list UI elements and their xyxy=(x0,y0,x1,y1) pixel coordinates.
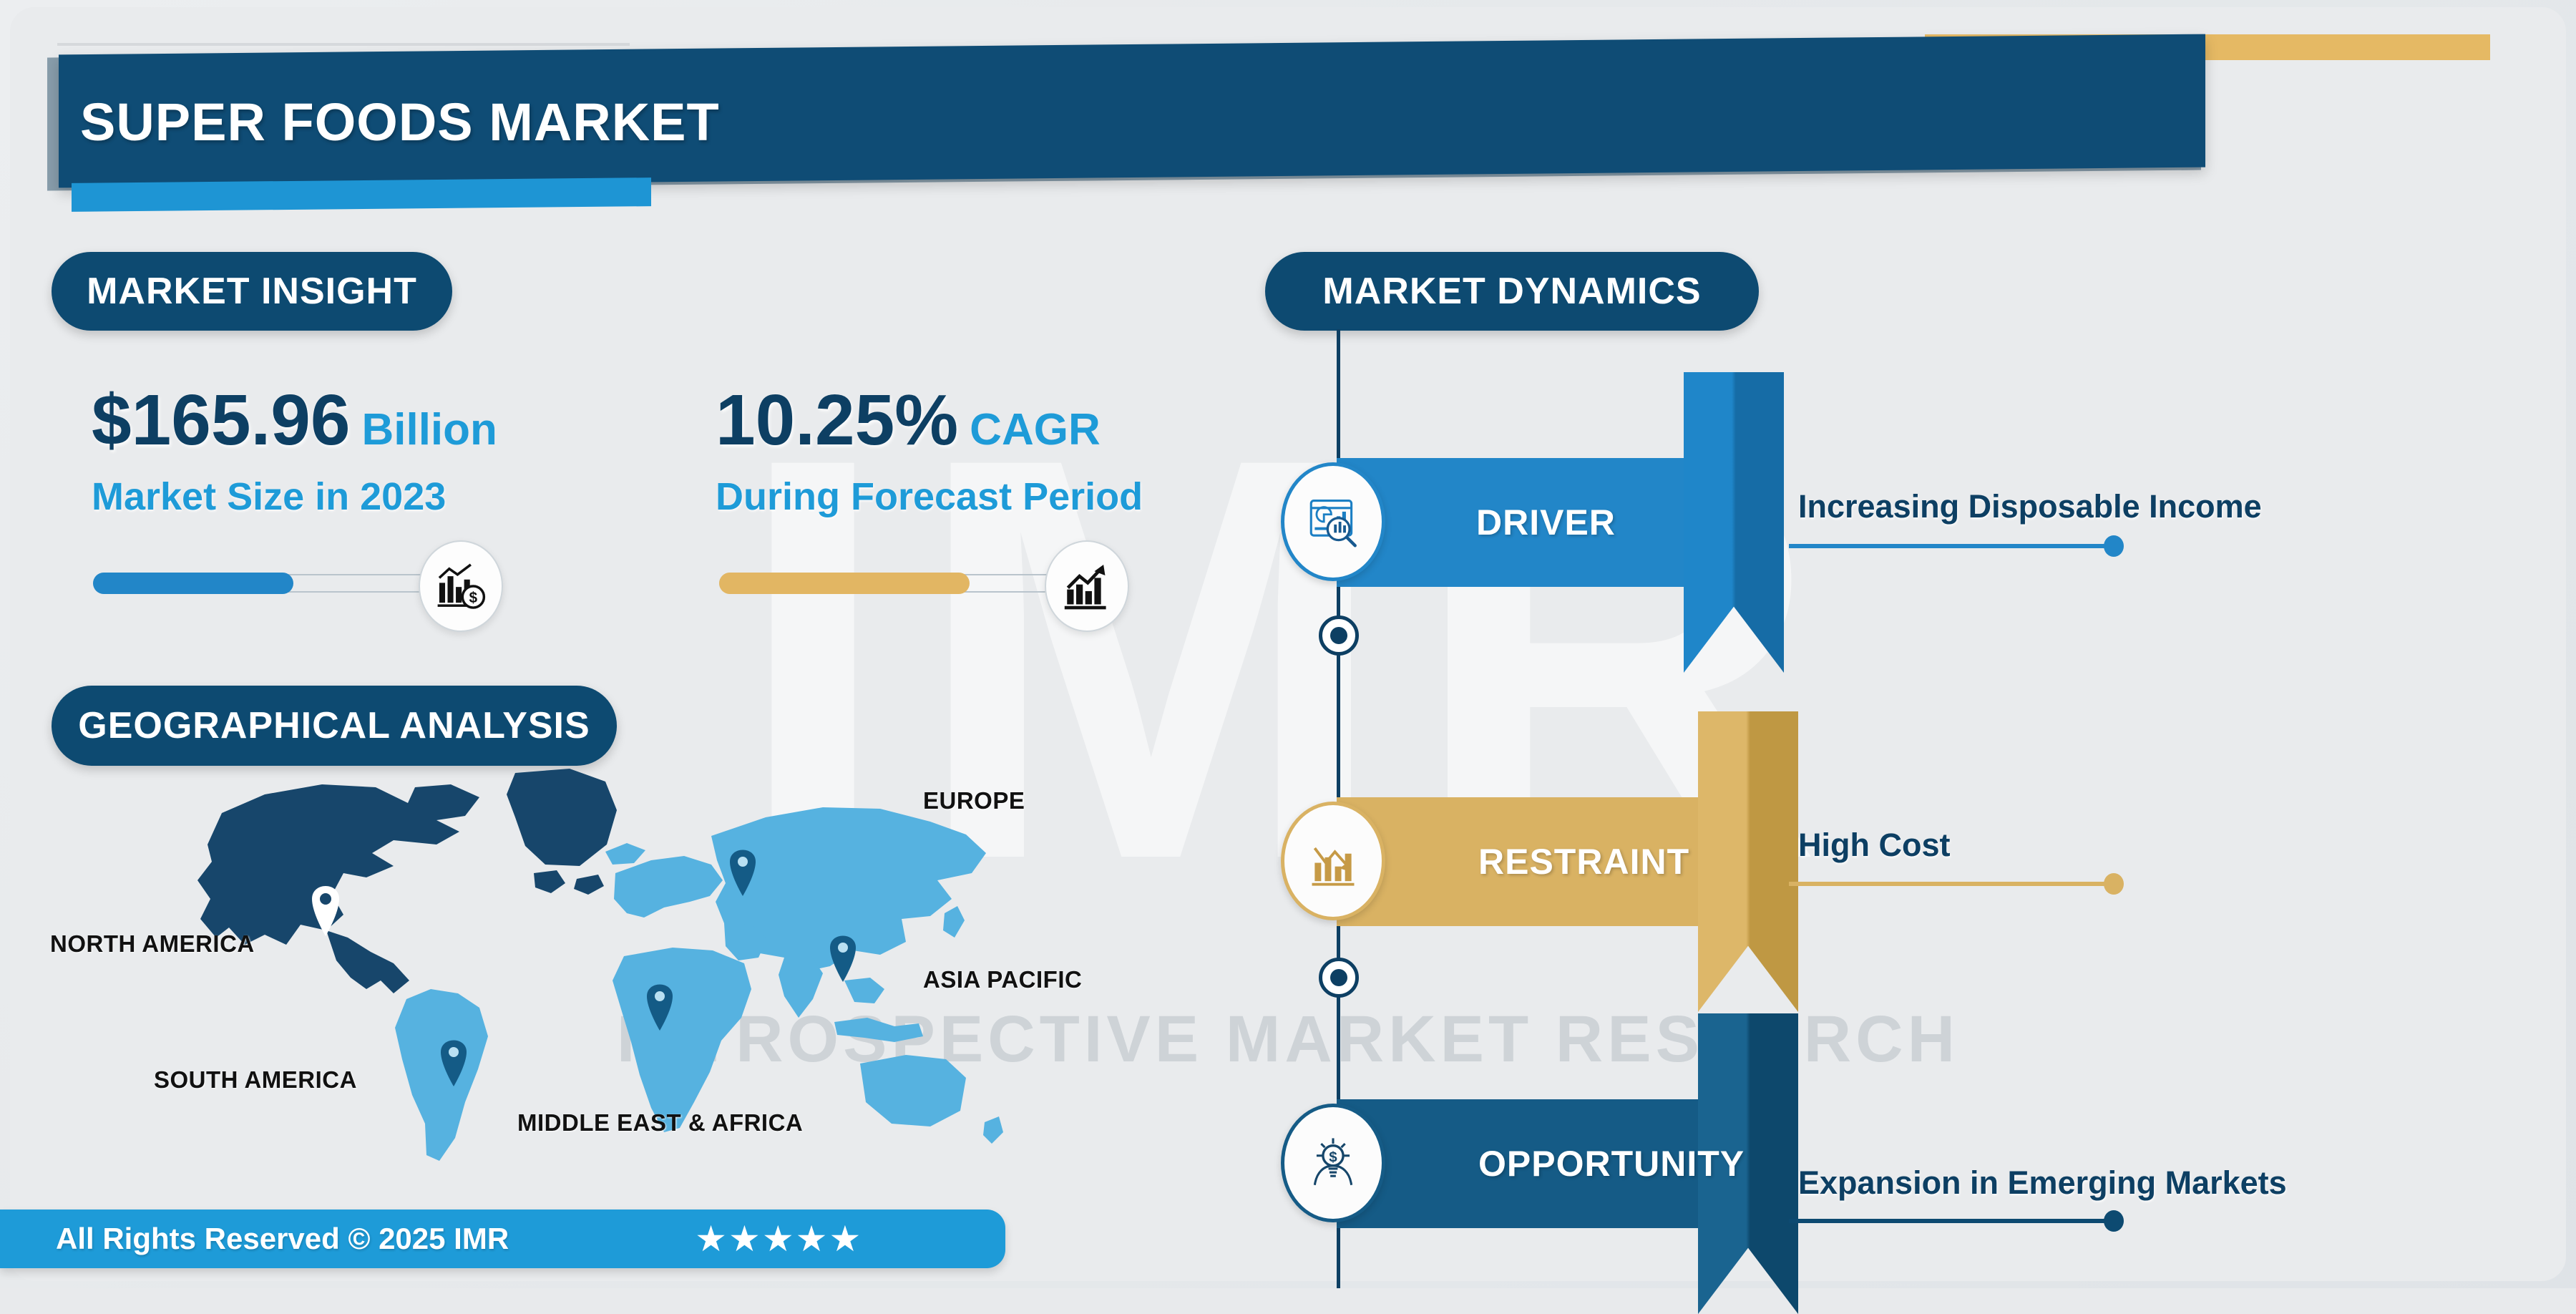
restraint-endpoint-dot xyxy=(2104,873,2124,895)
timeline-node-1 xyxy=(1319,615,1359,656)
copyright-text: All Rights Reserved © 2025 IMR xyxy=(56,1222,509,1256)
svg-text:$: $ xyxy=(1329,1149,1337,1166)
header-blue-accent xyxy=(72,177,651,212)
map-pin-north-america xyxy=(312,886,339,936)
market-size-progress xyxy=(93,573,451,594)
rating-stars: ★★★★★ xyxy=(695,1218,862,1260)
map-label-middle-east-africa: MIDDLE EAST & AFRICA xyxy=(517,1109,803,1137)
cagr-progress xyxy=(719,573,1077,594)
driver-endpoint-dot xyxy=(2104,535,2124,557)
opportunity-endpoint-dot xyxy=(2104,1210,2124,1232)
opportunity-label: OPPORTUNITY xyxy=(1478,1099,1745,1228)
cagr-unit: CAGR xyxy=(970,404,1101,455)
kpi-market-size: $165.96Billion Market Size in 2023 xyxy=(92,379,650,519)
driver-rule xyxy=(1789,544,2118,548)
kpi-cagr: 10.25%CAGR During Forecast Period xyxy=(716,379,1288,519)
restraint-label: RESTRAINT xyxy=(1478,797,1689,926)
market-size-unit: Billion xyxy=(361,404,497,455)
progress-fill xyxy=(93,573,293,594)
footer-bar: All Rights Reserved © 2025 IMR ★★★★★ xyxy=(0,1210,1005,1268)
infographic-canvas: IMR INTROSPECTIVE MARKET RESEARCH SUPER … xyxy=(0,0,2576,1288)
svg-text:$: $ xyxy=(469,590,478,606)
market-size-value: $165.96 xyxy=(92,379,350,462)
geographical-analysis-badge: GEOGRAPHICAL ANALYSIS xyxy=(52,686,617,766)
opportunity-value: Expansion in Emerging Markets xyxy=(1798,1164,2287,1202)
map-label-europe: EUROPE xyxy=(923,787,1025,814)
growth-arrow-chart-icon xyxy=(1045,540,1129,632)
map-pin-asia-pacific xyxy=(830,936,856,983)
progress-fill xyxy=(719,573,970,594)
map-label-north-america: NORTH AMERICA xyxy=(50,930,255,958)
opportunity-rule xyxy=(1789,1219,2118,1223)
market-dynamics-badge: MARKET DYNAMICS xyxy=(1265,252,1759,331)
dashboard-analysis-icon xyxy=(1281,462,1385,581)
market-size-caption: Market Size in 2023 xyxy=(92,474,650,519)
lightbulb-dollar-icon: $ xyxy=(1281,1104,1385,1222)
map-label-south-america: SOUTH AMERICA xyxy=(154,1066,357,1094)
page-title: SUPER FOODS MARKET xyxy=(80,92,2012,152)
bar-chart-dollar-icon: $ xyxy=(419,540,503,632)
driver-label: DRIVER xyxy=(1476,458,1616,587)
declining-bar-chart-icon xyxy=(1281,802,1385,920)
map-label-asia-pacific: ASIA PACIFIC xyxy=(923,966,1082,993)
market-insight-badge: MARKET INSIGHT xyxy=(52,252,452,331)
header-top-rule xyxy=(57,43,630,46)
dynamics-item-opportunity[interactable]: $ OPPORTUNITY xyxy=(1337,1099,1809,1228)
cagr-value: 10.25% xyxy=(716,379,958,462)
restraint-value: High Cost xyxy=(1798,827,1950,864)
dynamics-item-driver[interactable]: DRIVER xyxy=(1337,458,1795,587)
cagr-caption: During Forecast Period xyxy=(716,474,1288,519)
restraint-rule xyxy=(1789,882,2118,886)
dynamics-item-restraint[interactable]: RESTRAINT xyxy=(1337,797,1809,926)
driver-value: Increasing Disposable Income xyxy=(1798,488,2262,525)
timeline-node-2 xyxy=(1319,958,1359,998)
